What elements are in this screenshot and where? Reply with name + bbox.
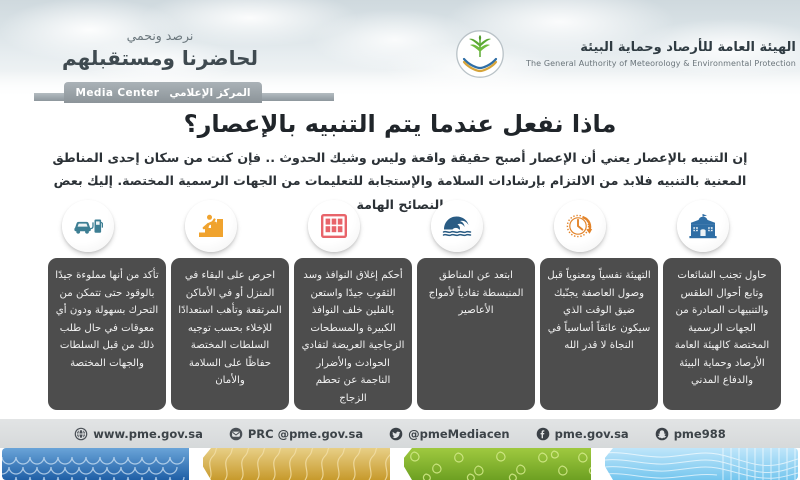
advice-card-1: التهيئة نفسياً ومعنوياً قبل وصول العاصفة… bbox=[540, 258, 658, 410]
icon-circle-school-building[interactable] bbox=[677, 200, 729, 252]
slogan-main-line: لحاضرنا ومستقبلهم bbox=[40, 45, 280, 72]
footer-link-snapchat-label: pme988 bbox=[674, 427, 726, 441]
snapchat-icon bbox=[655, 427, 669, 441]
footer-link-website[interactable]: www.pme.gov.sa bbox=[74, 427, 203, 441]
icon-circle-wave[interactable] bbox=[431, 200, 483, 252]
water-panel bbox=[2, 448, 198, 480]
footer-link-facebook[interactable]: pme.gov.sa bbox=[536, 427, 629, 441]
icon-circle-person-climbing-stairs[interactable] bbox=[185, 200, 237, 252]
authority-name-ar: الهيئة العامة للأرصاد وحماية البيئة bbox=[526, 40, 796, 57]
footer-link-email[interactable]: PRC @pme.gov.sa bbox=[229, 427, 363, 441]
media-center-bar-left bbox=[34, 93, 68, 101]
footer-link-facebook-label: pme.gov.sa bbox=[555, 427, 629, 441]
advice-card-4: احرص على البقاء في المنزل أو في الأماكن … bbox=[171, 258, 289, 410]
school-building-icon bbox=[688, 213, 718, 239]
media-center-tab-group: المركز الإعلامي Media Center bbox=[34, 82, 334, 104]
clock-arrow-icon bbox=[565, 212, 595, 240]
car-fuel-pump-icon bbox=[73, 213, 103, 239]
footer-link-twitter[interactable]: @pmeMediacen bbox=[389, 427, 510, 441]
advice-card-row: حاول تجنب الشائعات وتابع أحوال الطقس وال… bbox=[0, 258, 800, 410]
bottom-color-strip bbox=[0, 448, 800, 480]
footer-link-snapchat[interactable]: pme988 bbox=[655, 427, 726, 441]
slogan-block: نرصد ونحمي لحاضرنا ومستقبلهم bbox=[40, 28, 280, 72]
advice-card-2: ابتعد عن المناطق المنبسطة تفادياً لأمواج… bbox=[417, 258, 535, 410]
icon-circle-car-fuel-pump[interactable] bbox=[62, 200, 114, 252]
footer-link-website-label: www.pme.gov.sa bbox=[93, 427, 203, 441]
media-center-label-en: Media Center bbox=[76, 87, 160, 99]
wave-icon bbox=[442, 214, 472, 238]
footer-link-email-label: PRC @pme.gov.sa bbox=[248, 427, 363, 441]
media-center-bar-right bbox=[256, 93, 334, 101]
advice-card-5: تأكد من أنها مملوءة جيدًا بالوقود حتى تت… bbox=[48, 258, 166, 410]
media-center-tab[interactable]: المركز الإعلامي Media Center bbox=[64, 82, 262, 103]
twitter-icon bbox=[389, 427, 403, 441]
icon-circle-clock-arrow[interactable] bbox=[554, 200, 606, 252]
slogan-top-line: نرصد ونحمي bbox=[40, 28, 280, 43]
media-center-label-ar: المركز الإعلامي bbox=[169, 87, 250, 99]
page-title: ماذا نفعل عندما يتم التنبيه بالإعصار؟ bbox=[0, 110, 800, 138]
footer-social-bar: www.pme.gov.sa PRC @pme.gov.sa @pmeMedia… bbox=[0, 419, 800, 448]
icon-row bbox=[0, 200, 800, 258]
icon-circle-window[interactable] bbox=[308, 200, 360, 252]
climate-panel bbox=[605, 448, 798, 480]
advice-card-3: أحكم إغلاق النوافذ وسد الثقوب جيدًا واست… bbox=[294, 258, 412, 410]
footer-link-twitter-label: @pmeMediacen bbox=[408, 427, 510, 441]
person-climbing-stairs-icon bbox=[197, 213, 225, 239]
sand-panel bbox=[203, 448, 399, 480]
authority-identity: الهيئة العامة للأرصاد وحماية البيئة The … bbox=[455, 26, 755, 82]
window-icon bbox=[321, 214, 347, 238]
facebook-icon bbox=[536, 427, 550, 441]
advice-card-0: حاول تجنب الشائعات وتابع أحوال الطقس وال… bbox=[663, 258, 781, 410]
nature-panel bbox=[404, 448, 600, 480]
authority-name-en: The General Authority of Meteorology & E… bbox=[526, 59, 796, 68]
envelope-icon bbox=[229, 427, 243, 441]
saudi-palm-swords-emblem-logo bbox=[455, 29, 505, 79]
globe-icon bbox=[74, 427, 88, 441]
